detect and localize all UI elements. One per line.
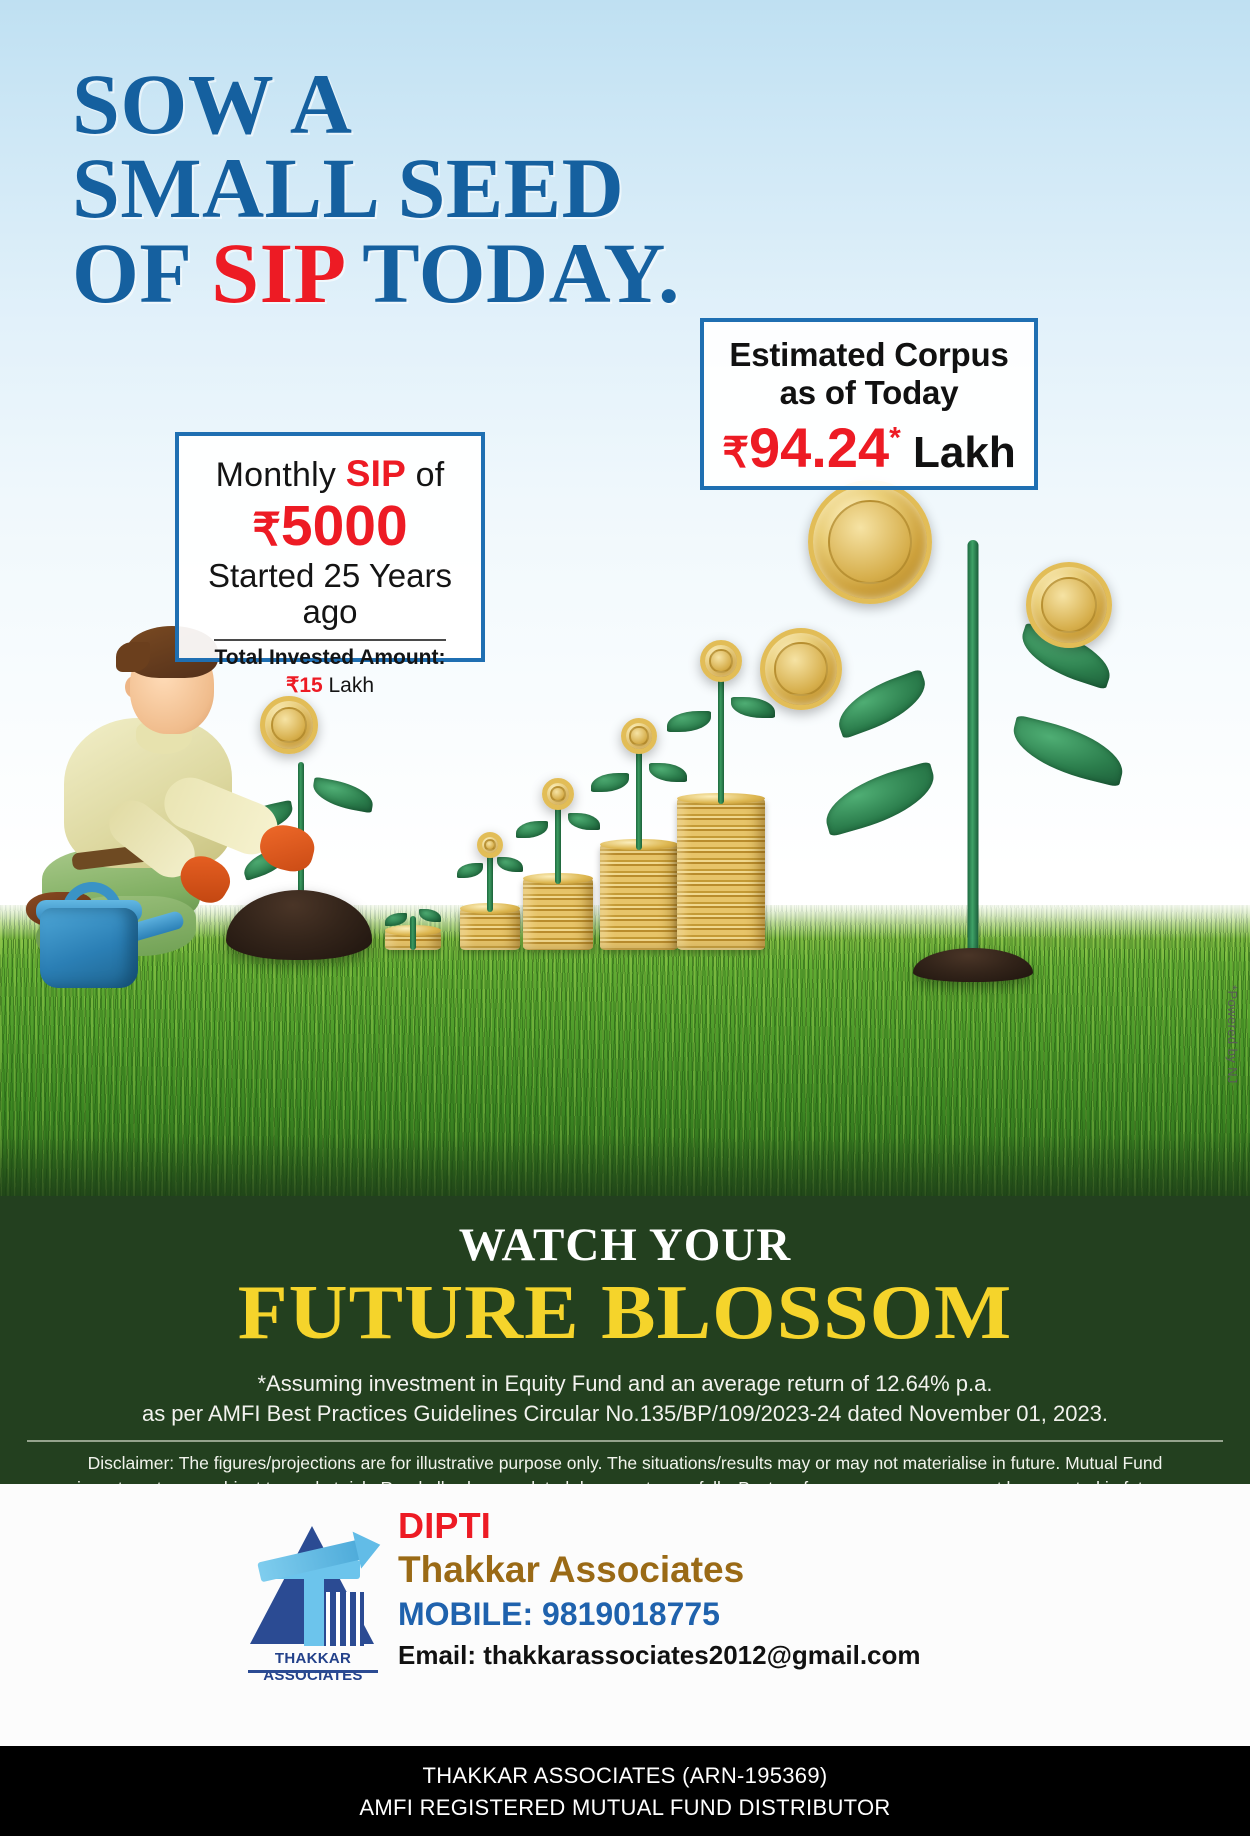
stem (555, 802, 561, 884)
assumption-line-1: *Assuming investment in Equity Fund and … (258, 1371, 993, 1396)
logo-wordmark: THAKKAR ASSOCIATES (238, 1650, 388, 1684)
stem (718, 668, 724, 804)
monthly-sip-label-post: of (406, 456, 444, 494)
leaf (591, 773, 629, 792)
asterisk-icon: * (889, 421, 901, 454)
contact-person-name: DIPTI (398, 1506, 921, 1546)
total-invested-value: ₹15 Lakh (179, 673, 481, 698)
disclaimer-line-1: Disclaimer: The figures/projections are … (88, 1453, 1163, 1473)
hair (116, 642, 150, 672)
monthly-sip-box: Monthly SIP of ₹5000 Started 25 Years ag… (175, 432, 485, 662)
soil-mound (913, 948, 1033, 982)
leaf (516, 821, 548, 838)
stem (487, 854, 493, 912)
footer-line-2: AMFI REGISTERED MUTUAL FUND DISTRIBUTOR (0, 1792, 1250, 1824)
thakkar-associates-logo: THAKKAR ASSOCIATES (238, 1514, 388, 1684)
estimated-corpus-box: Estimated Corpus as of Today ₹94.24* Lak… (700, 318, 1038, 490)
contact-mobile[interactable]: MOBILE: 9819018775 (398, 1595, 921, 1634)
gold-coin-large (808, 480, 932, 604)
leaf (419, 909, 441, 922)
divider (214, 639, 446, 641)
divider (27, 1440, 1223, 1442)
watch-your-heading: WATCH YOUR (0, 1218, 1250, 1272)
powered-by-watermark: *Powered by NJ (1225, 985, 1240, 1084)
gold-coin (700, 640, 742, 682)
coin-stack-coins (677, 798, 765, 950)
sip-started-text: Started 25 Years ago (179, 558, 481, 631)
corpus-amount-value: 94.24 (749, 416, 889, 479)
watering-can (26, 878, 176, 994)
gold-coin (621, 718, 657, 754)
grown-money-plant (838, 470, 1108, 970)
footer-line-1: THAKKAR ASSOCIATES (ARN-195369) (0, 1760, 1250, 1792)
gold-coin-small (760, 628, 842, 710)
leaf (731, 697, 775, 718)
leaf (830, 669, 934, 739)
footer-bar: THAKKAR ASSOCIATES (ARN-195369) AMFI REG… (0, 1746, 1250, 1836)
sprout-5 (667, 604, 775, 804)
can-body (40, 908, 138, 988)
leaf (457, 863, 483, 878)
gold-coin-medium (1026, 562, 1112, 648)
total-invested-unit: Lakh (323, 674, 374, 697)
monthly-sip-label-pre: Monthly (216, 456, 346, 494)
contact-email[interactable]: Email: thakkarassociates2012@gmail.com (398, 1639, 921, 1672)
sprout-1 (383, 892, 443, 950)
monthly-sip-amount-value: 5000 (281, 494, 408, 558)
monthly-sip-accent: SIP (346, 453, 406, 494)
rupee-symbol-icon: ₹ (286, 674, 299, 697)
rupee-symbol-icon: ₹ (252, 504, 281, 555)
leaf (818, 761, 942, 837)
corpus-title: Estimated Corpus as of Today (704, 336, 1034, 413)
assumption-line-2: as per AMFI Best Practices Guidelines Ci… (0, 1399, 1250, 1429)
leaf (1006, 715, 1130, 788)
coin-stack-coins (523, 878, 593, 950)
sip-poster: SOW A SMALL SEED OF SIP TODAY. (0, 0, 1250, 1836)
green-message-band: WATCH YOUR FUTURE BLOSSOM *Assuming inve… (0, 1196, 1250, 1484)
corpus-amount-unit: Lakh (901, 428, 1016, 477)
rupee-symbol-icon: ₹ (722, 429, 749, 476)
monthly-sip-label: Monthly SIP of (179, 454, 481, 495)
contact-section: THAKKAR ASSOCIATES DIPTI Thakkar Associa… (0, 1484, 1250, 1746)
future-blossom-heading: FUTURE BLOSSOM (0, 1274, 1250, 1351)
gold-coin (542, 778, 574, 810)
logo-letter-t-stem-icon (304, 1560, 324, 1646)
stem (636, 742, 642, 850)
total-invested-number: 15 (299, 674, 322, 697)
corpus-amount: ₹94.24* Lakh (704, 419, 1034, 478)
contact-details: DIPTI Thakkar Associates MOBILE: 9819018… (398, 1506, 921, 1672)
contact-firm-name: Thakkar Associates (398, 1548, 921, 1592)
gold-coin (477, 832, 503, 858)
logo-underline (248, 1670, 378, 1673)
assumption-note: *Assuming investment in Equity Fund and … (0, 1369, 1250, 1428)
monthly-sip-amount: ₹5000 (179, 497, 481, 555)
leaf (667, 711, 711, 732)
coin-stack-1 (378, 880, 448, 950)
stem (410, 916, 416, 950)
total-invested-label: Total Invested Amount: (179, 646, 481, 670)
leaf (385, 913, 407, 926)
plant-stem (968, 540, 979, 970)
corpus-title-line-2: as of Today (780, 374, 959, 411)
corpus-title-line-1: Estimated Corpus (729, 336, 1008, 373)
